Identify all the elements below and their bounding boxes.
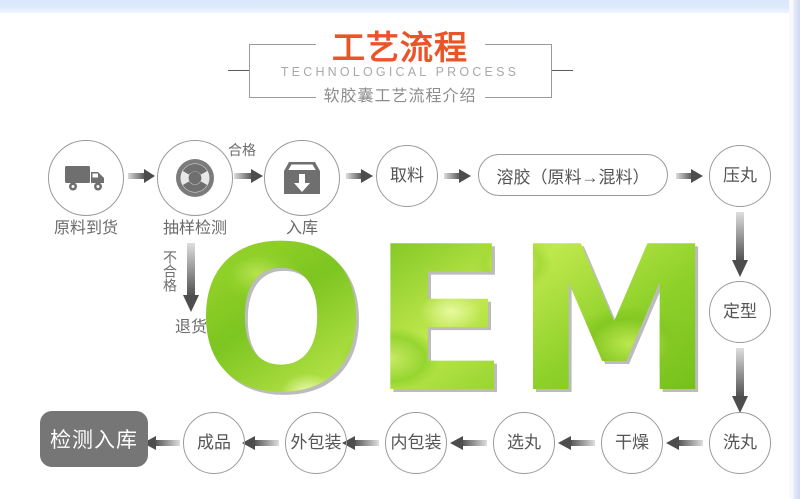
truck-icon: [64, 163, 108, 193]
caption-warehouse-in: 入库: [254, 219, 350, 239]
arrow-b5: [241, 435, 279, 451]
node-take-material[interactable]: 取料: [376, 145, 438, 207]
node-sampling-inspection[interactable]: [157, 140, 233, 216]
node-outer-packing[interactable]: 外包装: [285, 412, 347, 474]
page-subtitle: TECHNOLOGICAL PROCESS: [0, 64, 800, 80]
caption-material-arrival: 原料到货: [26, 219, 146, 239]
node-gel-dissolving[interactable]: 溶胶（原料→混料）: [478, 154, 668, 196]
arrow-b1: [665, 435, 703, 451]
caption-sampling-inspection: 抽样检测: [135, 219, 255, 239]
inbox-box-icon: [282, 159, 322, 197]
arrow-fail-down: [182, 243, 200, 313]
node-press-pill[interactable]: 压丸: [709, 145, 771, 207]
process-flow-infographic: 工艺流程 TECHNOLOGICAL PROCESS 软胶囊工艺流程介绍 OEM…: [0, 0, 800, 499]
arrow-4: [444, 168, 472, 184]
arrow-1: [128, 168, 156, 184]
node-wash-pill-label: 洗丸: [723, 433, 757, 453]
arrow-b3: [449, 435, 487, 451]
node-shaping[interactable]: 定型: [709, 281, 771, 343]
page-caption: 软胶囊工艺流程介绍: [0, 86, 800, 108]
node-drying[interactable]: 干燥: [601, 412, 663, 474]
branch-label-pass: 合格: [228, 140, 256, 160]
arrow-b2: [557, 435, 595, 451]
page-title: 工艺流程: [0, 30, 800, 66]
node-material-arrival[interactable]: [48, 140, 124, 216]
arrow-3: [346, 168, 374, 184]
node-warehouse-in[interactable]: [264, 140, 340, 216]
node-select-pill[interactable]: 选丸: [493, 412, 555, 474]
node-finished-product-label: 成品: [197, 433, 231, 453]
node-inspection-warehouse[interactable]: 检测入库: [40, 411, 148, 467]
caption-return-goods: 退货: [151, 318, 231, 338]
node-wash-pill[interactable]: 洗丸: [709, 412, 771, 474]
node-finished-product[interactable]: 成品: [183, 412, 245, 474]
node-inner-packing[interactable]: 内包装: [385, 412, 447, 474]
node-drying-label: 干燥: [615, 433, 649, 453]
node-select-pill-label: 选丸: [507, 433, 541, 453]
top-color-band: [0, 0, 800, 13]
arrow-down-2: [731, 348, 749, 414]
node-inspection-warehouse-label: 检测入库: [50, 424, 138, 454]
node-outer-packing-label: 外包装: [291, 433, 342, 453]
node-gel-dissolving-label: 溶胶（原料→混料）: [497, 163, 650, 188]
arrow-down-1: [731, 212, 749, 278]
node-inner-packing-label: 内包装: [391, 433, 442, 453]
node-press-pill-label: 压丸: [723, 166, 757, 186]
header: 工艺流程 TECHNOLOGICAL PROCESS 软胶囊工艺流程介绍: [0, 14, 800, 114]
node-shaping-label: 定型: [723, 302, 757, 322]
arrow-2: [234, 168, 264, 184]
node-take-material-label: 取料: [390, 166, 424, 186]
branch-label-fail: 不合格: [160, 250, 180, 292]
arrow-5: [676, 168, 704, 184]
oem-watermark: OEM: [196, 226, 706, 416]
inspection-gear-icon: [173, 156, 217, 200]
